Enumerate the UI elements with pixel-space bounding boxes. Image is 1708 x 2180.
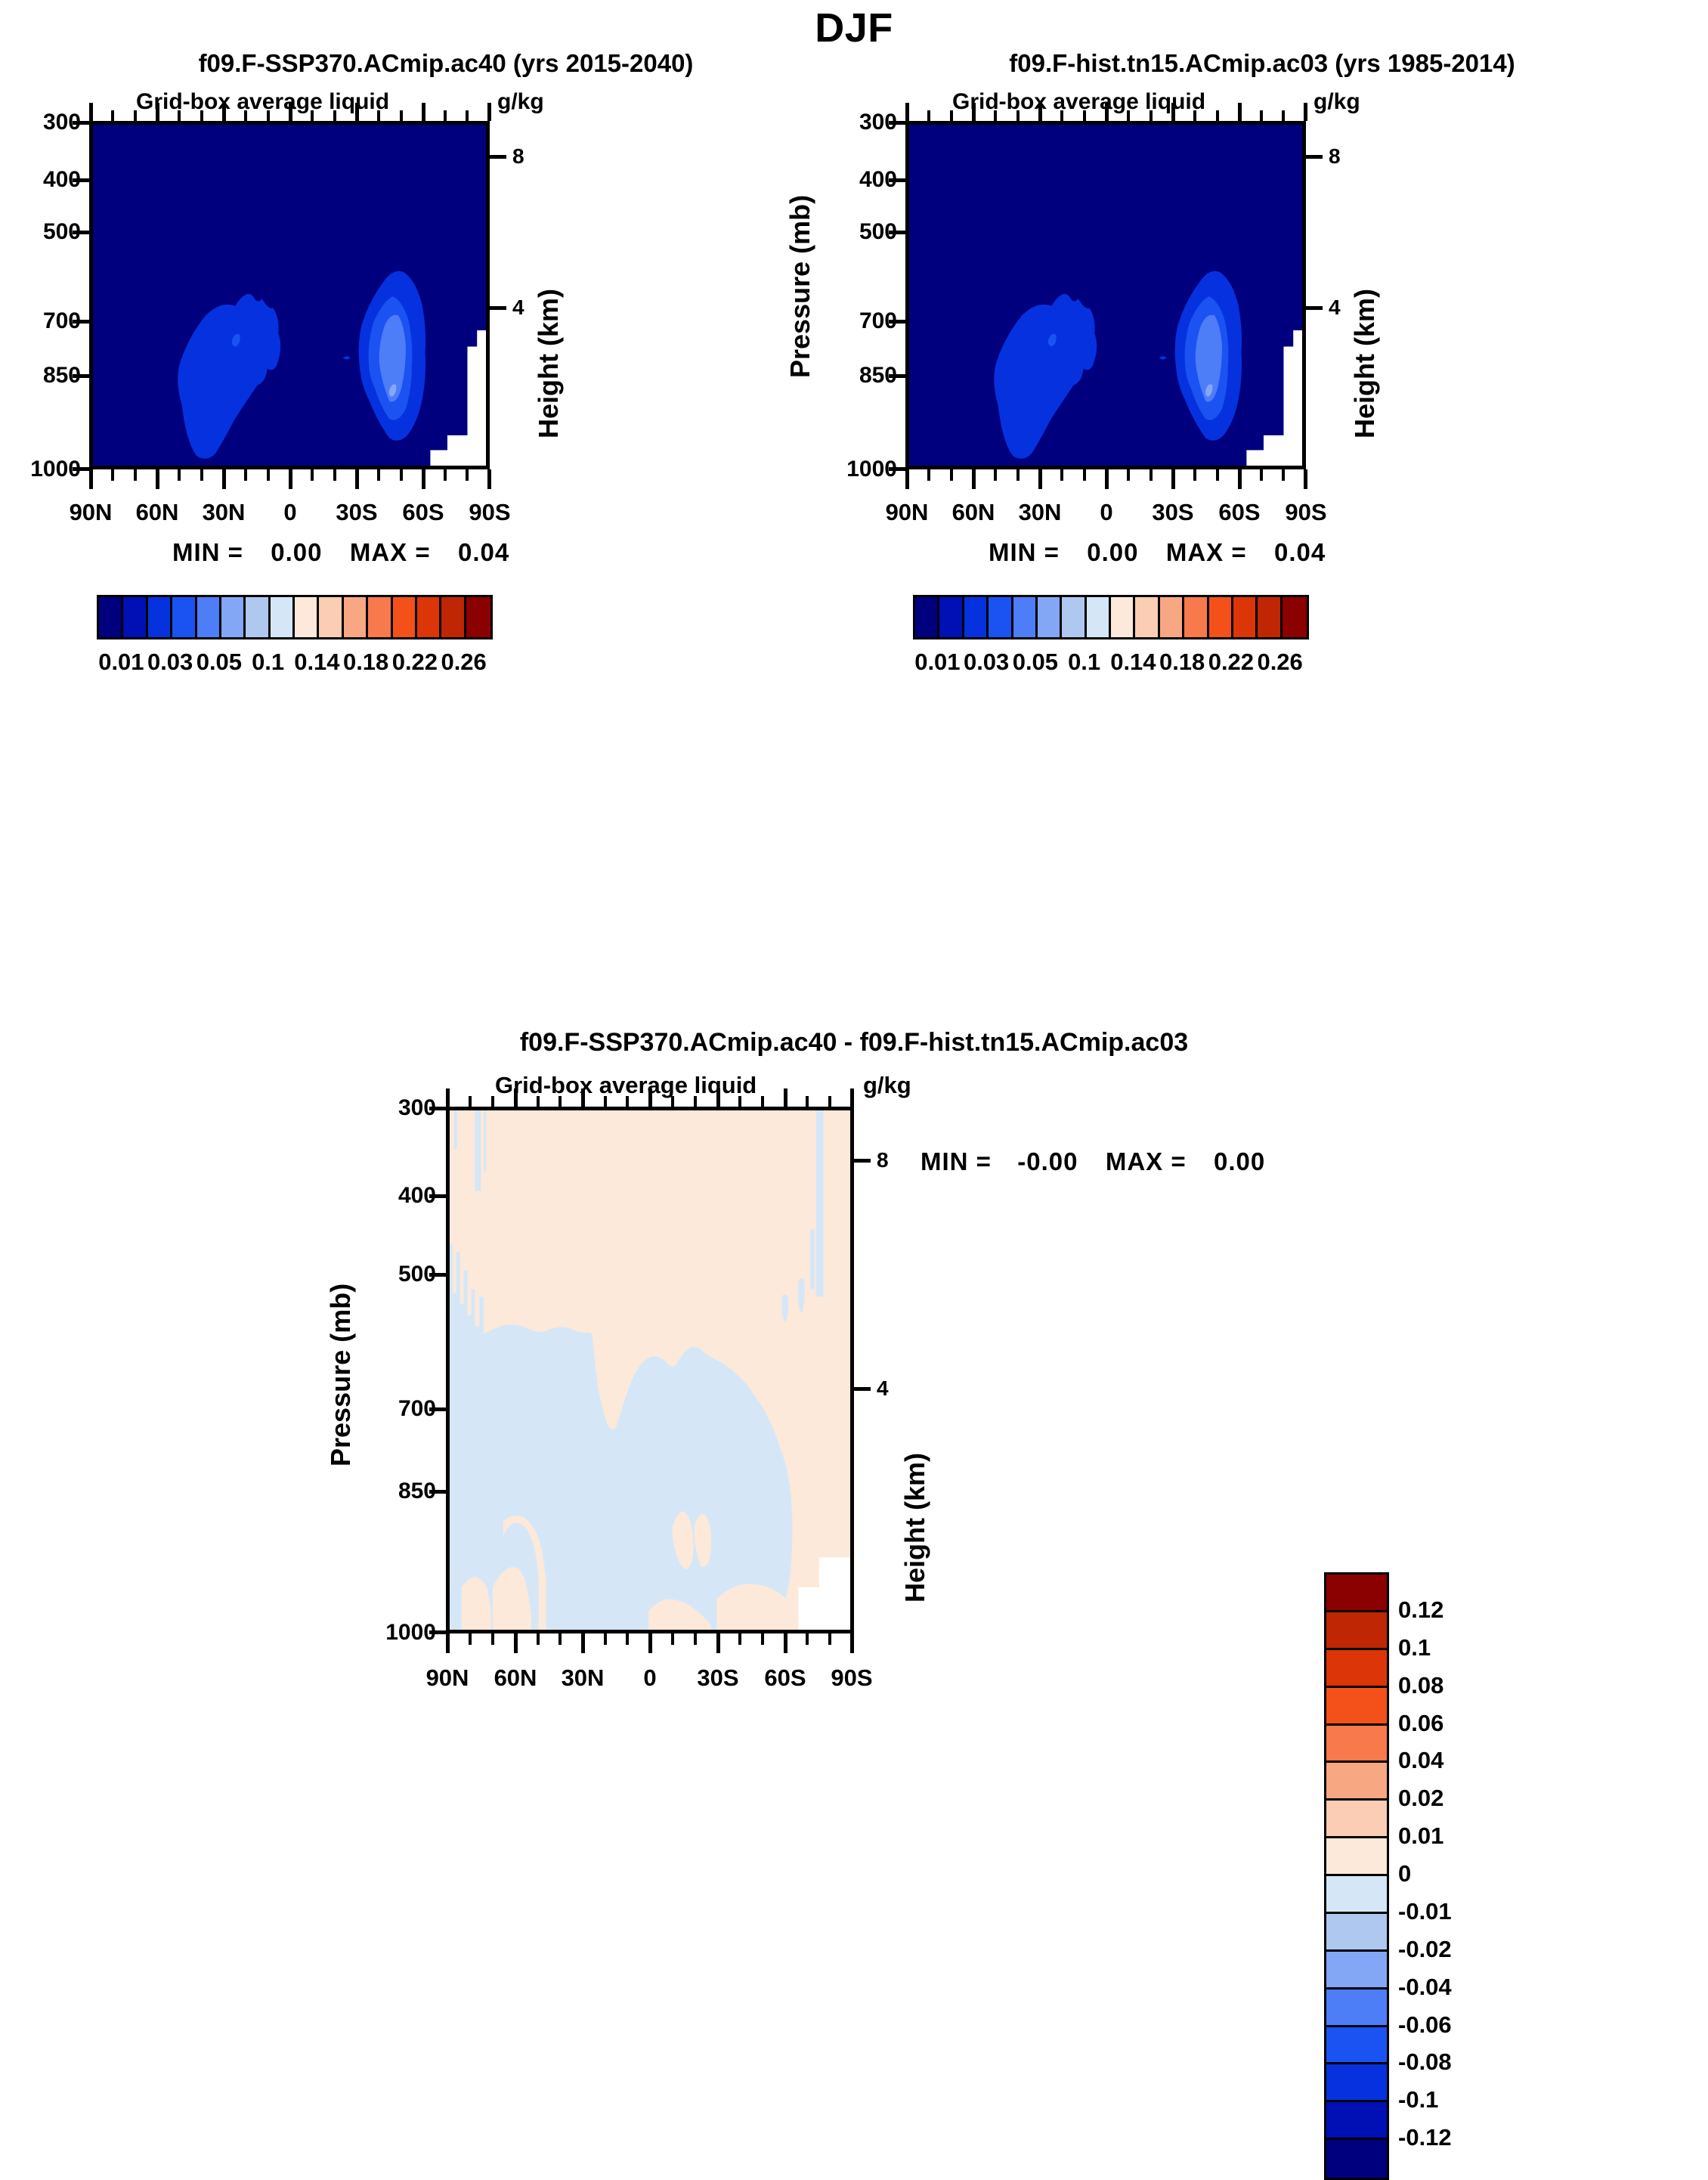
panel-top-left-plot xyxy=(89,121,490,469)
colorbar-cell xyxy=(393,597,417,637)
xtick-top-minor xyxy=(1016,110,1020,121)
ytick-mark-700 xyxy=(429,1407,446,1411)
colorbar-cell xyxy=(99,597,123,637)
xtick-minor xyxy=(311,469,314,481)
ytick-mark-500 xyxy=(889,231,905,234)
colorbar-tick-label: 0 xyxy=(1398,1860,1411,1887)
xtick-mark-90S xyxy=(487,469,491,489)
xtick-minor xyxy=(111,469,114,481)
xtick-minor xyxy=(1149,469,1153,481)
y2tick-4: 4 xyxy=(512,296,524,320)
colorbar-cell xyxy=(964,597,989,637)
xtick-90N: 90N xyxy=(426,1664,469,1692)
colorbar-tick-label: 0.26 xyxy=(1257,649,1302,676)
xtick-top-minor xyxy=(828,1096,831,1107)
xtick-minor xyxy=(828,1633,831,1645)
xtick-top xyxy=(446,1088,450,1107)
xtick-top-minor xyxy=(994,110,997,121)
xtick-mark-90S xyxy=(850,1633,854,1653)
y-axis-title: Pressure (mb) xyxy=(325,1284,357,1466)
colorbar-cell xyxy=(1326,1726,1387,1764)
xtick-top xyxy=(581,1088,585,1107)
min-label: MIN = xyxy=(172,538,243,566)
xtick-minor xyxy=(491,1633,494,1645)
xtick-90N: 90N xyxy=(70,499,113,526)
colorbar-cell xyxy=(1111,597,1135,637)
xtick-top xyxy=(1105,103,1109,121)
colorbar-tick-label: -0.08 xyxy=(1398,2048,1452,2076)
colorbar-tick-label: 0.12 xyxy=(1398,1596,1443,1624)
ytick-mark-300 xyxy=(429,1107,446,1110)
panel-top-right-units: g/kg xyxy=(1313,89,1360,115)
colorbar-cell xyxy=(246,597,270,637)
colorbar-tick-label: -0.02 xyxy=(1398,1936,1452,1963)
xtick-top xyxy=(784,1088,787,1107)
y2tick-8: 8 xyxy=(512,144,524,169)
xtick-minor xyxy=(950,469,953,481)
xtick-mark-30N xyxy=(222,469,226,489)
y2-axis-title: Height (km) xyxy=(1349,289,1381,438)
xtick-top-minor xyxy=(491,1096,494,1107)
xtick-top xyxy=(422,103,425,121)
panel-bottom-title: f09.F-SSP370.ACmip.ac40 - f09.F-hist.tn1… xyxy=(340,1028,1368,1057)
xtick-top xyxy=(156,103,159,121)
colorbar-tick-label: 0.04 xyxy=(1398,1747,1443,1774)
colorbar-tick-label: 0.08 xyxy=(1398,1672,1443,1699)
max-label: MAX = xyxy=(1106,1147,1187,1175)
xtick-mark-30S xyxy=(1171,469,1175,489)
xtick-mark-30N xyxy=(581,1633,585,1653)
xtick-minor xyxy=(267,469,270,481)
panel-top-right-colorbar xyxy=(913,595,1309,639)
xtick-30S: 30S xyxy=(336,499,377,526)
ytick-mark-300 xyxy=(889,121,905,125)
colorbar-cell xyxy=(1326,1990,1387,2027)
colorbar-cell xyxy=(1326,2027,1387,2065)
xtick-top-minor xyxy=(1149,110,1153,121)
variable-label: Grid-box average liquid xyxy=(136,89,389,115)
xtick-mark-0 xyxy=(1105,469,1109,489)
xtick-top-minor xyxy=(1260,110,1263,121)
xtick-60N: 60N xyxy=(136,499,179,526)
colorbar-cell xyxy=(1326,2102,1387,2140)
ytick-mark-850 xyxy=(73,374,89,378)
xtick-minor xyxy=(1193,469,1196,481)
xtick-mark-0 xyxy=(289,469,292,489)
ytick-mark-400 xyxy=(429,1194,446,1198)
ytick-mark-1000 xyxy=(429,1630,446,1634)
xtick-top xyxy=(648,1088,652,1107)
xtick-minor xyxy=(244,469,247,481)
panel-bottom-minmax: MIN = -0.00 MAX = 0.00 xyxy=(921,1147,1265,1176)
colorbar-tick-label: 0.1 xyxy=(252,649,284,676)
colorbar-cell xyxy=(1326,1876,1387,1914)
ytick-mark-1000 xyxy=(73,467,89,471)
xtick-top xyxy=(972,103,976,121)
xtick-top-minor xyxy=(927,110,930,121)
xtick-minor xyxy=(1216,469,1219,481)
colorbar-cell xyxy=(1326,1763,1387,1801)
max-value: 0.04 xyxy=(1274,538,1326,566)
colorbar-cell xyxy=(1062,597,1086,637)
xtick-top-minor xyxy=(604,1096,607,1107)
panel-top-right-plot xyxy=(905,121,1306,469)
min-label: MIN = xyxy=(921,1147,992,1175)
panel-top-right-minmax: MIN = 0.00 MAX = 0.04 xyxy=(989,538,1326,567)
colorbar-tick-label: -0.1 xyxy=(1398,2086,1438,2113)
ytick-mark-400 xyxy=(73,178,89,182)
panel-top-left-title: f09.F-SSP370.ACmip.ac40 (yrs 2015-2040) xyxy=(45,49,846,78)
xtick-top xyxy=(355,103,359,121)
xtick-90S: 90S xyxy=(469,499,510,526)
max-label: MAX = xyxy=(1166,538,1247,566)
xtick-mark-60S xyxy=(784,1633,787,1653)
xtick-minor xyxy=(806,1633,809,1645)
y2tick-4: 4 xyxy=(1329,296,1341,320)
y2tick-4: 4 xyxy=(877,1376,889,1401)
panel-top-left-colorbar xyxy=(97,595,493,639)
colorbar-tick-label: 0.26 xyxy=(441,649,486,676)
xtick-minor xyxy=(994,469,997,481)
colorbar-cell xyxy=(939,597,964,637)
panel-bottom-contours xyxy=(450,1110,850,1630)
xtick-top-minor xyxy=(950,110,953,121)
xtick-top-minor xyxy=(1127,110,1130,121)
panel-top-right-colorbar-labels: 0.010.030.050.10.140.180.220.26 xyxy=(913,649,1304,679)
xtick-mark-60S xyxy=(422,469,425,489)
xtick-mark-60S xyxy=(1238,469,1242,489)
panel-bottom-diff: f09.F-SSP370.ACmip.ac40 - f09.F-hist.tn1… xyxy=(401,1028,1307,1822)
xtick-minor xyxy=(671,1633,674,1645)
colorbar-cell xyxy=(197,597,221,637)
colorbar-cell xyxy=(1258,597,1282,637)
y2-axis-title: Height (km) xyxy=(899,1453,931,1602)
colorbar-cell xyxy=(417,597,441,637)
colorbar-cell xyxy=(466,597,490,637)
xtick-top-minor xyxy=(244,110,247,121)
xtick-30S: 30S xyxy=(1152,499,1193,526)
xtick-top-minor xyxy=(537,1096,540,1107)
xtick-top-minor xyxy=(469,1096,472,1107)
colorbar-cell xyxy=(1038,597,1062,637)
xtick-top xyxy=(1238,103,1242,121)
xtick-top-minor xyxy=(806,1096,809,1107)
panel-top-right-variable: Grid-box average liquid xyxy=(952,89,1205,115)
colorbar-tick-label: 0.05 xyxy=(1013,649,1058,676)
colorbar-tick-label: 0.14 xyxy=(294,649,339,676)
colorbar-cell xyxy=(1233,597,1258,637)
colorbar-cell xyxy=(123,597,147,637)
min-label: MIN = xyxy=(989,538,1060,566)
xtick-top-minor xyxy=(1216,110,1219,121)
xtick-minor xyxy=(333,469,336,481)
xtick-top-minor xyxy=(178,110,181,121)
colorbar-tick-label: 0.01 xyxy=(98,649,144,676)
y2tick-mark-8 xyxy=(1306,155,1323,159)
colorbar-tick-label: 0.06 xyxy=(1398,1710,1443,1737)
colorbar-cell xyxy=(271,597,295,637)
colorbar-tick-label: 0.1 xyxy=(1068,649,1100,676)
panel-top-right-contours xyxy=(909,125,1302,466)
colorbar-cell xyxy=(319,597,343,637)
ytick-mark-700 xyxy=(889,320,905,324)
xtick-minor xyxy=(1083,469,1086,481)
ytick-mark-400 xyxy=(889,178,905,182)
xtick-mark-0 xyxy=(648,1633,652,1653)
colorbar-cell xyxy=(915,597,939,637)
xtick-90S: 90S xyxy=(1285,499,1326,526)
colorbar-tick-label: 0.22 xyxy=(392,649,438,676)
y2tick-mark-8 xyxy=(490,155,506,159)
xtick-60N: 60N xyxy=(494,1664,537,1692)
colorbar-cell xyxy=(344,597,368,637)
colorbar-tick-label: -0.06 xyxy=(1398,2011,1452,2039)
figure-title: DJF xyxy=(0,0,1708,51)
colorbar-cell xyxy=(1087,597,1111,637)
colorbar-cell xyxy=(989,597,1013,637)
xtick-top-minor xyxy=(671,1096,674,1107)
colorbar-cell xyxy=(1326,1914,1387,1952)
xtick-minor xyxy=(444,469,447,481)
xtick-top-minor xyxy=(1083,110,1086,121)
min-value: 0.00 xyxy=(271,538,322,566)
xtick-top-minor xyxy=(1282,110,1285,121)
xtick-90N: 90N xyxy=(886,499,929,526)
xtick-60N: 60N xyxy=(952,499,995,526)
xtick-30N: 30N xyxy=(203,499,246,526)
panel-top-left-colorbar-labels: 0.010.030.050.10.140.180.220.26 xyxy=(97,649,488,679)
xtick-top-minor xyxy=(333,110,336,121)
colorbar-cell xyxy=(1283,597,1307,637)
ytick-mark-850 xyxy=(889,374,905,378)
xtick-minor xyxy=(694,1633,697,1645)
xtick-mark-90N xyxy=(905,469,909,489)
panel-top-left-minmax: MIN = 0.00 MAX = 0.04 xyxy=(172,538,509,567)
colorbar-tick-label: 0.01 xyxy=(914,649,960,676)
xtick-minor xyxy=(927,469,930,481)
colorbar-cell xyxy=(1326,1612,1387,1650)
panel-bottom-colorbar xyxy=(1324,1572,1389,2180)
panel-top-left-units: g/kg xyxy=(497,89,544,115)
xtick-minor xyxy=(377,469,380,481)
ytick-mark-500 xyxy=(429,1273,446,1277)
colorbar-cell xyxy=(221,597,246,637)
y2tick-mark-4 xyxy=(490,306,506,310)
xtick-minor xyxy=(178,469,181,481)
panel-top-left-subhead: Grid-box average liquid xyxy=(136,89,529,115)
xtick-minor xyxy=(537,1633,540,1645)
xtick-minor xyxy=(761,1633,764,1645)
y2-axis-title: Height (km) xyxy=(533,289,565,438)
xtick-minor xyxy=(1282,469,1285,481)
xtick-mark-90N xyxy=(89,469,93,489)
ytick-mark-500 xyxy=(73,231,89,234)
xtick-top xyxy=(1171,103,1175,121)
xtick-top-minor xyxy=(738,1096,741,1107)
colorbar-cell xyxy=(1013,597,1038,637)
colorbar-cell xyxy=(1326,1688,1387,1726)
ytick-mark-700 xyxy=(73,320,89,324)
xtick-minor xyxy=(559,1633,562,1645)
xtick-mark-60N xyxy=(514,1633,518,1653)
ytick-1000: 1000 xyxy=(385,1620,436,1646)
colorbar-cell xyxy=(1326,1952,1387,1990)
xtick-top-minor xyxy=(1060,110,1063,121)
colorbar-cell xyxy=(1160,597,1184,637)
colorbar-tick-label: 0.18 xyxy=(1159,649,1205,676)
xtick-top xyxy=(1038,103,1042,121)
min-value: 0.00 xyxy=(1087,538,1138,566)
colorbar-cell xyxy=(1326,1801,1387,1838)
xtick-60S: 60S xyxy=(1218,499,1260,526)
xtick-top xyxy=(850,1088,854,1107)
xtick-top xyxy=(89,103,93,121)
xtick-mark-30S xyxy=(355,469,359,489)
colorbar-cell xyxy=(295,597,319,637)
panel-top-left-contours xyxy=(93,125,486,466)
colorbar-cell xyxy=(368,597,392,637)
xtick-top xyxy=(487,103,491,121)
xtick-minor xyxy=(626,1633,629,1645)
xtick-top-minor xyxy=(267,110,270,121)
xtick-mark-60N xyxy=(972,469,976,489)
panel-top-right-title: f09.F-hist.tn15.ACmip.ac03 (yrs 1985-201… xyxy=(862,49,1663,78)
panel-bottom-colorbar-labels: 0.120.10.080.060.040.020.010-0.01-0.02-0… xyxy=(1398,1572,1519,2175)
xtick-30S: 30S xyxy=(697,1664,738,1692)
y-axis-title: Pressure (mb) xyxy=(784,195,816,378)
xtick-mark-90S xyxy=(1304,469,1307,489)
colorbar-cell xyxy=(1135,597,1159,637)
xtick-minor xyxy=(604,1633,607,1645)
xtick-top-minor xyxy=(444,110,447,121)
colorbar-tick-label: 0.1 xyxy=(1398,1634,1431,1661)
xtick-top-minor xyxy=(200,110,203,121)
colorbar-cell xyxy=(1326,1575,1387,1612)
ytick-mark-1000 xyxy=(889,467,905,471)
colorbar-cell xyxy=(1326,1838,1387,1876)
xtick-top xyxy=(716,1088,720,1107)
colorbar-cell xyxy=(441,597,466,637)
xtick-minor xyxy=(400,469,403,481)
xtick-top-minor xyxy=(559,1096,562,1107)
xtick-minor xyxy=(1016,469,1020,481)
colorbar-cell xyxy=(148,597,172,637)
panel-top-right: f09.F-hist.tn15.ACmip.ac03 (yrs 1985-201… xyxy=(862,45,1663,1028)
y2tick-8: 8 xyxy=(877,1148,889,1172)
xtick-top-minor xyxy=(626,1096,629,1107)
xtick-top xyxy=(222,103,226,121)
xtick-minor xyxy=(200,469,203,481)
xtick-top-minor xyxy=(466,110,469,121)
xtick-top-minor xyxy=(111,110,114,121)
xtick-60S: 60S xyxy=(764,1664,806,1692)
xtick-30N: 30N xyxy=(1019,499,1062,526)
xtick-top xyxy=(514,1088,518,1107)
colorbar-cell xyxy=(1184,597,1208,637)
ytick-mark-300 xyxy=(73,121,89,125)
panel-bottom-units: g/kg xyxy=(863,1072,911,1099)
xtick-top-minor xyxy=(311,110,314,121)
xtick-60S: 60S xyxy=(402,499,444,526)
xtick-top-minor xyxy=(694,1096,697,1107)
xtick-90S: 90S xyxy=(831,1664,872,1692)
xtick-top-minor xyxy=(400,110,403,121)
colorbar-tick-label: 0.22 xyxy=(1208,649,1254,676)
xtick-minor xyxy=(466,469,469,481)
colorbar-tick-label: 0.03 xyxy=(147,649,193,676)
xtick-minor xyxy=(738,1633,741,1645)
panel-bottom-plot xyxy=(446,1107,854,1633)
xtick-top-minor xyxy=(761,1096,764,1107)
colorbar-tick-label: 0.14 xyxy=(1110,649,1156,676)
colorbar-tick-label: -0.12 xyxy=(1398,2124,1452,2151)
colorbar-tick-label: -0.01 xyxy=(1398,1898,1452,1925)
colorbar-cell xyxy=(172,597,196,637)
xtick-minor xyxy=(1260,469,1263,481)
max-label: MAX = xyxy=(350,538,431,566)
y2tick-8: 8 xyxy=(1329,144,1341,169)
y2tick-mark-4 xyxy=(854,1387,871,1391)
xtick-0: 0 xyxy=(283,499,296,526)
colorbar-tick-label: 0.18 xyxy=(343,649,388,676)
y2tick-mark-8 xyxy=(854,1159,871,1163)
xtick-mark-30S xyxy=(716,1633,720,1653)
xtick-minor xyxy=(134,469,137,481)
xtick-minor xyxy=(469,1633,472,1645)
y2tick-mark-4 xyxy=(1306,306,1323,310)
xtick-minor xyxy=(1127,469,1130,481)
colorbar-cell xyxy=(1326,2140,1387,2178)
max-value: 0.00 xyxy=(1214,1147,1265,1175)
xtick-top-minor xyxy=(134,110,137,121)
colorbar-tick-label: 0.02 xyxy=(1398,1785,1443,1812)
xtick-top-minor xyxy=(1193,110,1196,121)
xtick-30N: 30N xyxy=(562,1664,605,1692)
xtick-mark-90N xyxy=(446,1633,450,1653)
min-value: -0.00 xyxy=(1017,1147,1078,1175)
panel-top-left: f09.F-SSP370.ACmip.ac40 (yrs 2015-2040) … xyxy=(45,45,846,1028)
xtick-top xyxy=(289,103,292,121)
ytick-mark-850 xyxy=(429,1490,446,1494)
xtick-top xyxy=(905,103,909,121)
colorbar-tick-label: 0.05 xyxy=(196,649,242,676)
xtick-top-minor xyxy=(377,110,380,121)
colorbar-tick-label: 0.03 xyxy=(964,649,1009,676)
colorbar-cell xyxy=(1209,597,1233,637)
xtick-mark-60N xyxy=(156,469,159,489)
colorbar-tick-label: -0.04 xyxy=(1398,1974,1452,2001)
colorbar-cell xyxy=(1326,1650,1387,1688)
xtick-mark-30N xyxy=(1038,469,1042,489)
xtick-minor xyxy=(1060,469,1063,481)
xtick-0: 0 xyxy=(643,1664,656,1692)
xtick-0: 0 xyxy=(1100,499,1112,526)
max-value: 0.04 xyxy=(458,538,509,566)
xtick-top xyxy=(1304,103,1307,121)
colorbar-cell xyxy=(1326,2064,1387,2102)
